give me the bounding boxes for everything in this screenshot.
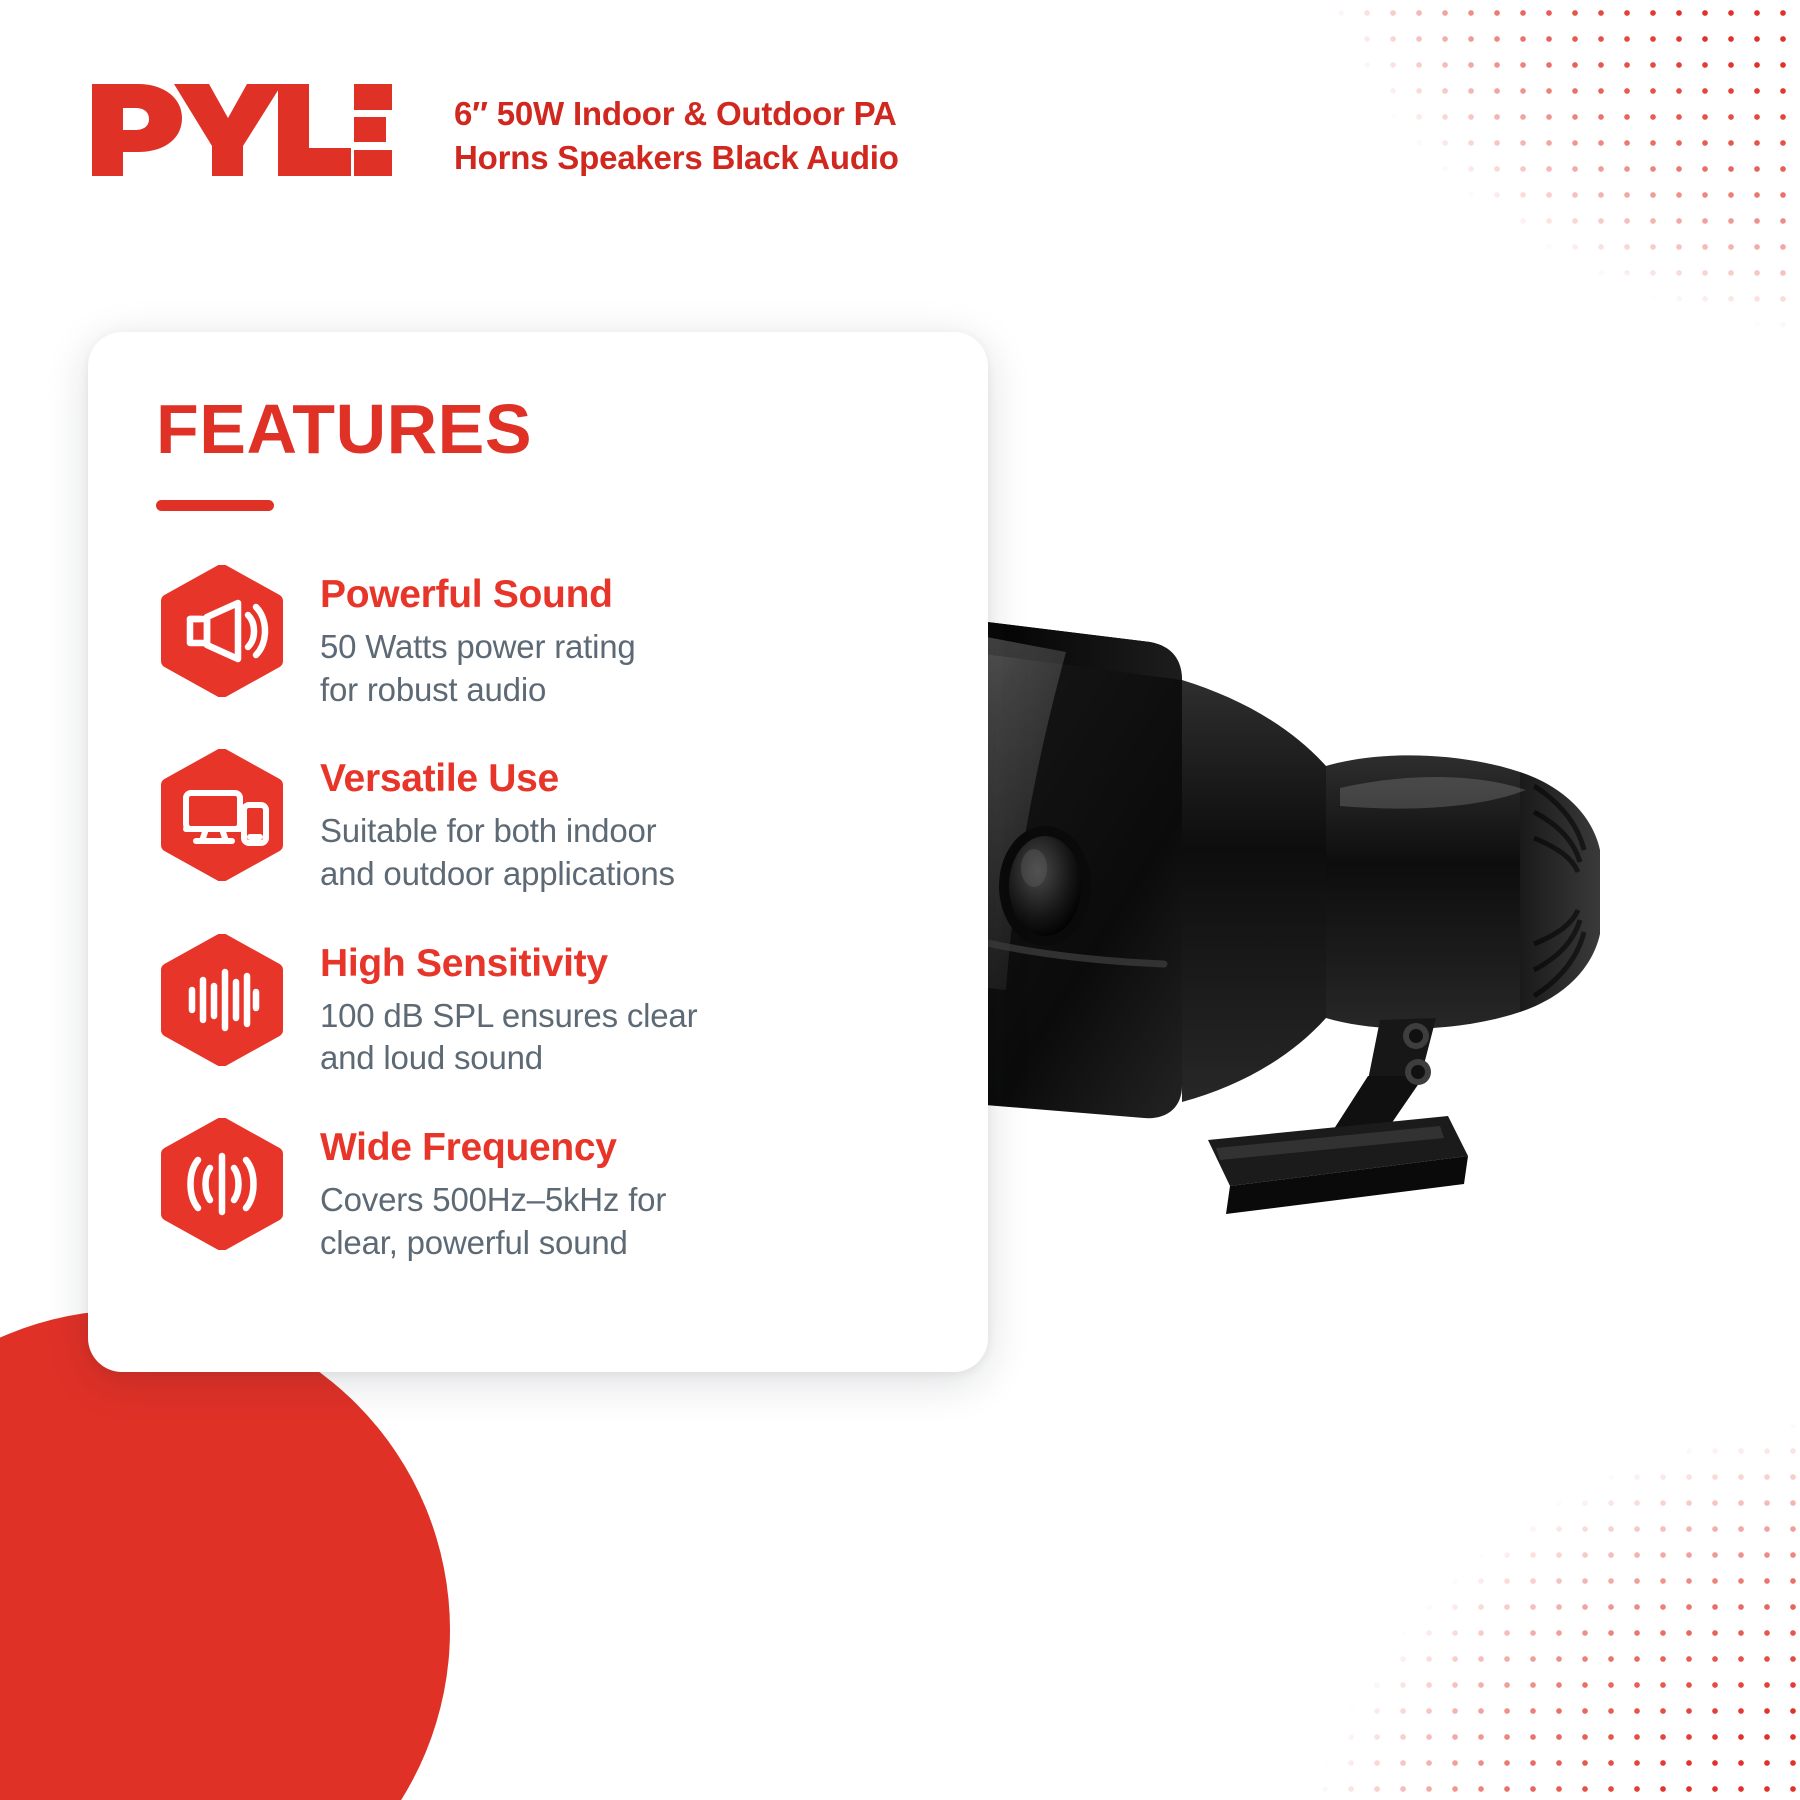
feature-description-line-2: for robust audio [320,669,636,712]
feature-item: Powerful Sound 50 Watts power rating for… [156,563,988,711]
feature-description: 100 dB SPL ensures clear and loud sound [320,995,697,1081]
sound-waves-icon [156,1118,288,1250]
feature-description-line-2: and outdoor applications [320,853,675,896]
features-heading: FEATURES [156,394,988,464]
feature-description-line-1: 50 Watts power rating [320,626,636,669]
feature-description: 50 Watts power rating for robust audio [320,626,636,712]
product-title-line-2: Horns Speakers Black Audio [454,136,899,180]
red-corner-blob [0,1310,450,1800]
infographic-page: 6″ 50W Indoor & Outdoor PA Horns Speaker… [0,0,1800,1800]
feature-item: Versatile Use Suitable for both indoor a… [156,747,988,895]
feature-description: Suitable for both indoor and outdoor app… [320,810,675,896]
feature-item: Wide Frequency Covers 500Hz–5kHz for cle… [156,1116,988,1264]
halftone-dots-top-right [1250,0,1800,430]
feature-description: Covers 500Hz–5kHz for clear, powerful so… [320,1179,666,1265]
feature-text: Versatile Use Suitable for both indoor a… [320,747,675,895]
devices-icon [156,749,288,881]
feature-description-line-1: Covers 500Hz–5kHz for [320,1179,666,1222]
megaphone-icon [156,565,288,697]
feature-heading: Powerful Sound [320,573,636,617]
waveform-icon [156,934,288,1066]
feature-description-line-1: 100 dB SPL ensures clear [320,995,697,1038]
feature-heading: Versatile Use [320,757,675,801]
feature-description-line-2: and loud sound [320,1037,697,1080]
feature-description-line-2: clear, powerful sound [320,1222,666,1265]
halftone-dots-bottom-right [1260,1360,1800,1800]
product-title: 6″ 50W Indoor & Outdoor PA Horns Speaker… [454,92,899,180]
pyle-logo [92,82,392,178]
feature-text: High Sensitivity 100 dB SPL ensures clea… [320,932,697,1080]
feature-heading: High Sensitivity [320,942,697,986]
product-title-line-1: 6″ 50W Indoor & Outdoor PA [454,92,899,136]
feature-heading: Wide Frequency [320,1126,666,1170]
features-card: FEATURES [88,332,988,1372]
feature-item: High Sensitivity 100 dB SPL ensures clea… [156,932,988,1080]
header: 6″ 50W Indoor & Outdoor PA Horns Speaker… [92,78,899,180]
feature-text: Powerful Sound 50 Watts power rating for… [320,563,636,711]
feature-text: Wide Frequency Covers 500Hz–5kHz for cle… [320,1116,666,1264]
feature-list: Powerful Sound 50 Watts power rating for… [156,563,988,1265]
feature-description-line-1: Suitable for both indoor [320,810,675,853]
heading-accent-rule [156,500,274,511]
